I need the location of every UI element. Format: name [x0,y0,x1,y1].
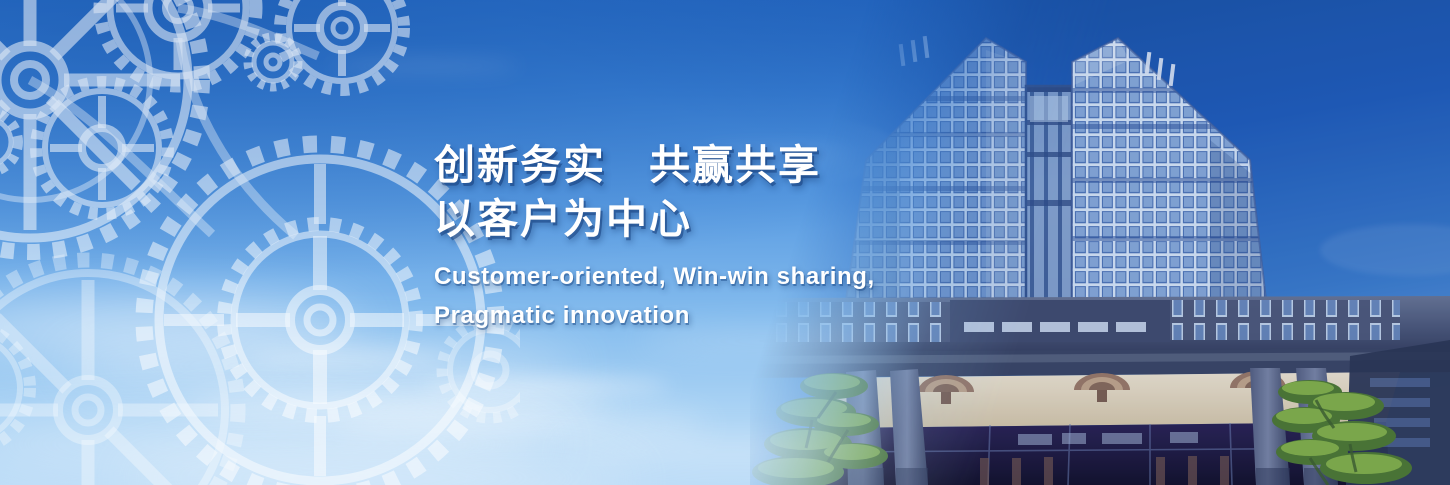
slogan-en-line-2: Pragmatic innovation [434,297,994,334]
slogan-block: 创新务实 共赢共享 以客户为中心 Customer-oriented, Win-… [434,138,994,334]
slogan-en-line-1: Customer-oriented, Win-win sharing, [434,258,994,295]
hero-banner: 创新务实 共赢共享 以客户为中心 Customer-oriented, Win-… [0,0,1450,485]
slogan-cn-line-2: 以客户为中心 [434,192,994,246]
slogan-cn-line-1: 创新务实 共赢共享 [434,138,994,192]
